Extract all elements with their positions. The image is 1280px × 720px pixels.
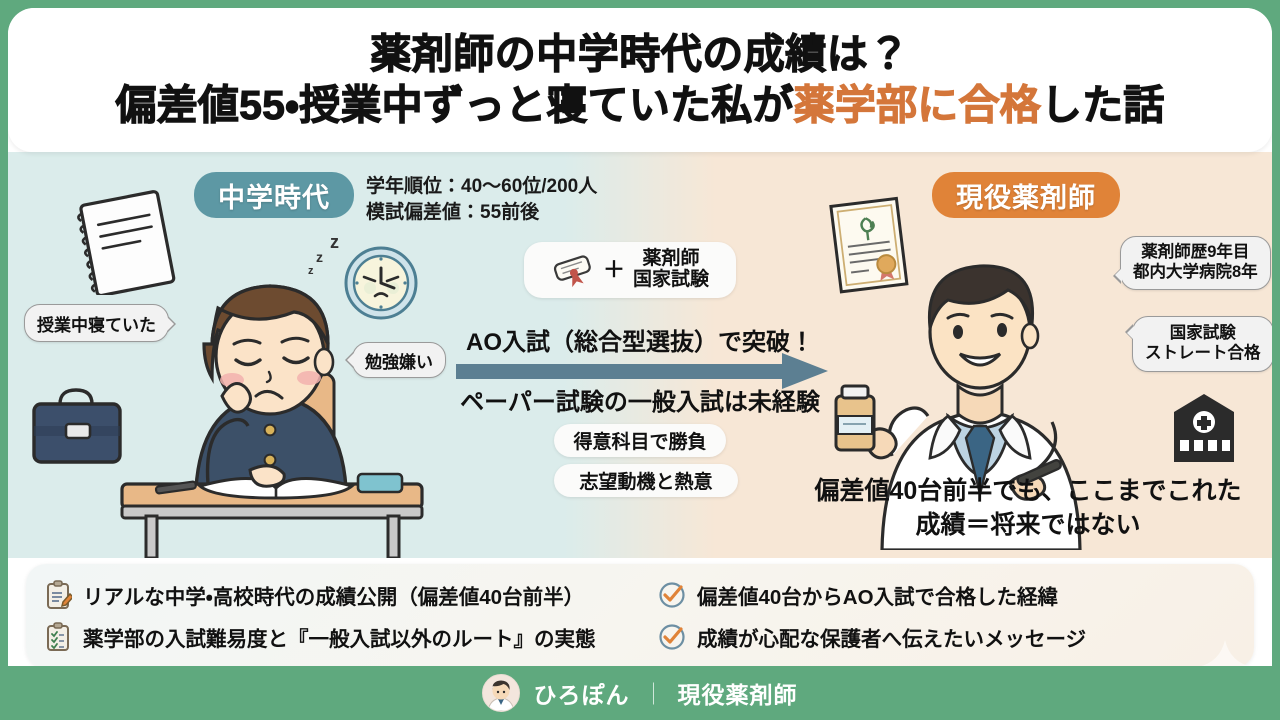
conclusion-line-1: 偏差値40台前半でも、ここまでこれた [808,474,1248,508]
list-item-text: 偏差値40台からAO入試で合格した経緯 [697,580,1058,610]
pill-strong-subjects: 得意科目で勝負 [554,424,726,457]
list-item: 偏差値40台からAO入試で合格した経緯 [658,580,1254,610]
white-frame: 薬剤師の中学時代の成績は？ 偏差値55・授業中ずっと寝ていた私が薬学部に合格した… [8,8,1272,712]
list-item: 薬学部の入試難易度と『一般入試以外のルート』の実態 [46,622,642,652]
exam-pass-l1: 国家試験 [1170,324,1236,344]
clipboard-pencil-icon [46,580,72,610]
stats-rank: 学年順位：40〜60位/200人 [366,174,597,200]
check-circle-icon [658,581,686,609]
footer-bar: ひろぽん ｜ 現役薬剤師 [0,666,1280,720]
topics-card: リアルな中学・高校時代の成績公開（偏差値40台前半） 薬学部の入試難易度と『一般… [26,564,1254,668]
pill-national-exam: ＋ 薬剤師 国家試験 [524,242,736,298]
pill-motivation: 志望動機と熱意 [554,464,738,497]
list-item: 成績が心配な保護者へ伝えたいメッセージ [658,622,1254,652]
check-circle-icon [658,623,686,651]
arrow-bar [456,364,786,379]
avatar-portrait [483,675,519,711]
bubble-exam-pass: 国家試験 ストレート合格 [1132,316,1272,372]
footer-separator: ｜ [642,677,664,709]
plus-sign: ＋ [603,257,625,282]
topics-column-left: リアルな中学・高校時代の成績公開（偏差値40台前半） 薬学部の入試難易度と『一般… [26,580,642,652]
author-avatar [482,674,520,712]
exam-pass-l2: ストレート合格 [1145,344,1261,364]
national-exam-label-l1: 薬剤師 [633,249,709,270]
list-item-text: リアルな中学・高校時代の成績公開（偏差値40台前半） [83,580,584,610]
bubble-career-years: 薬剤師歴9年目 都内大学病院8年 [1120,236,1271,290]
conclusion-text: 偏差値40台前半でも、ここまでこれた 成績＝将来ではない [808,474,1248,542]
title-line-2-post: した話 [1041,82,1165,128]
title-line-2-pre: 偏差値55・授業中ずっと寝ていた私が [116,82,794,128]
career-years-l1: 薬剤師歴9年目 [1141,243,1249,263]
title-line-2: 偏差値55・授業中ずっと寝ていた私が薬学部に合格した話 [116,83,1165,129]
list-item-text: 成績が心配な保護者へ伝えたいメッセージ [697,622,1086,652]
footer-author-name: ひろぽん [533,676,629,710]
list-item: リアルな中学・高校時代の成績公開（偏差値40台前半） [46,580,642,610]
hospital-building-icon [1162,390,1246,468]
title-card: 薬剤師の中学時代の成績は？ 偏差値55・授業中ずっと寝ていた私が薬学部に合格した… [8,8,1272,152]
national-exam-label-l2: 国家試験 [633,270,709,291]
conclusion-line-2: 成績＝将来ではない [808,508,1248,542]
badge-junior-high: 中学時代 [194,172,354,218]
career-years-l2: 都内大学病院8年 [1133,263,1258,283]
national-exam-label: 薬剤師 国家試験 [633,249,709,291]
infographic-canvas: 薬剤師の中学時代の成績は？ 偏差値55・授業中ずっと寝ていた私が薬学部に合格した… [0,0,1280,720]
title-highlight: 薬学部に合格 [794,82,1041,128]
badge-active-pharmacist: 現役薬剤師 [932,172,1120,218]
comparison-panel: 中学時代 学年順位：40〜60位/200人 模試偏差値：55前後 [8,152,1272,558]
junior-high-stats: 学年順位：40〜60位/200人 模試偏差値：55前後 [366,174,597,226]
diploma-scroll-icon [551,250,595,290]
title-line-1: 薬剤師の中学時代の成績は？ [370,32,910,78]
stats-deviation: 模試偏差値：55前後 [366,200,597,226]
topics-column-right: 偏差値40台からAO入試で合格した経緯 成績が心配な保護者へ伝えたいメッセージ [642,580,1254,652]
medicine-bottle-icon [836,386,874,450]
footer-author-role: 現役薬剤師 [678,676,798,710]
list-item-text: 薬学部の入試難易度と『一般入試以外のルート』の実態 [83,622,596,652]
clipboard-check-icon [46,622,72,652]
